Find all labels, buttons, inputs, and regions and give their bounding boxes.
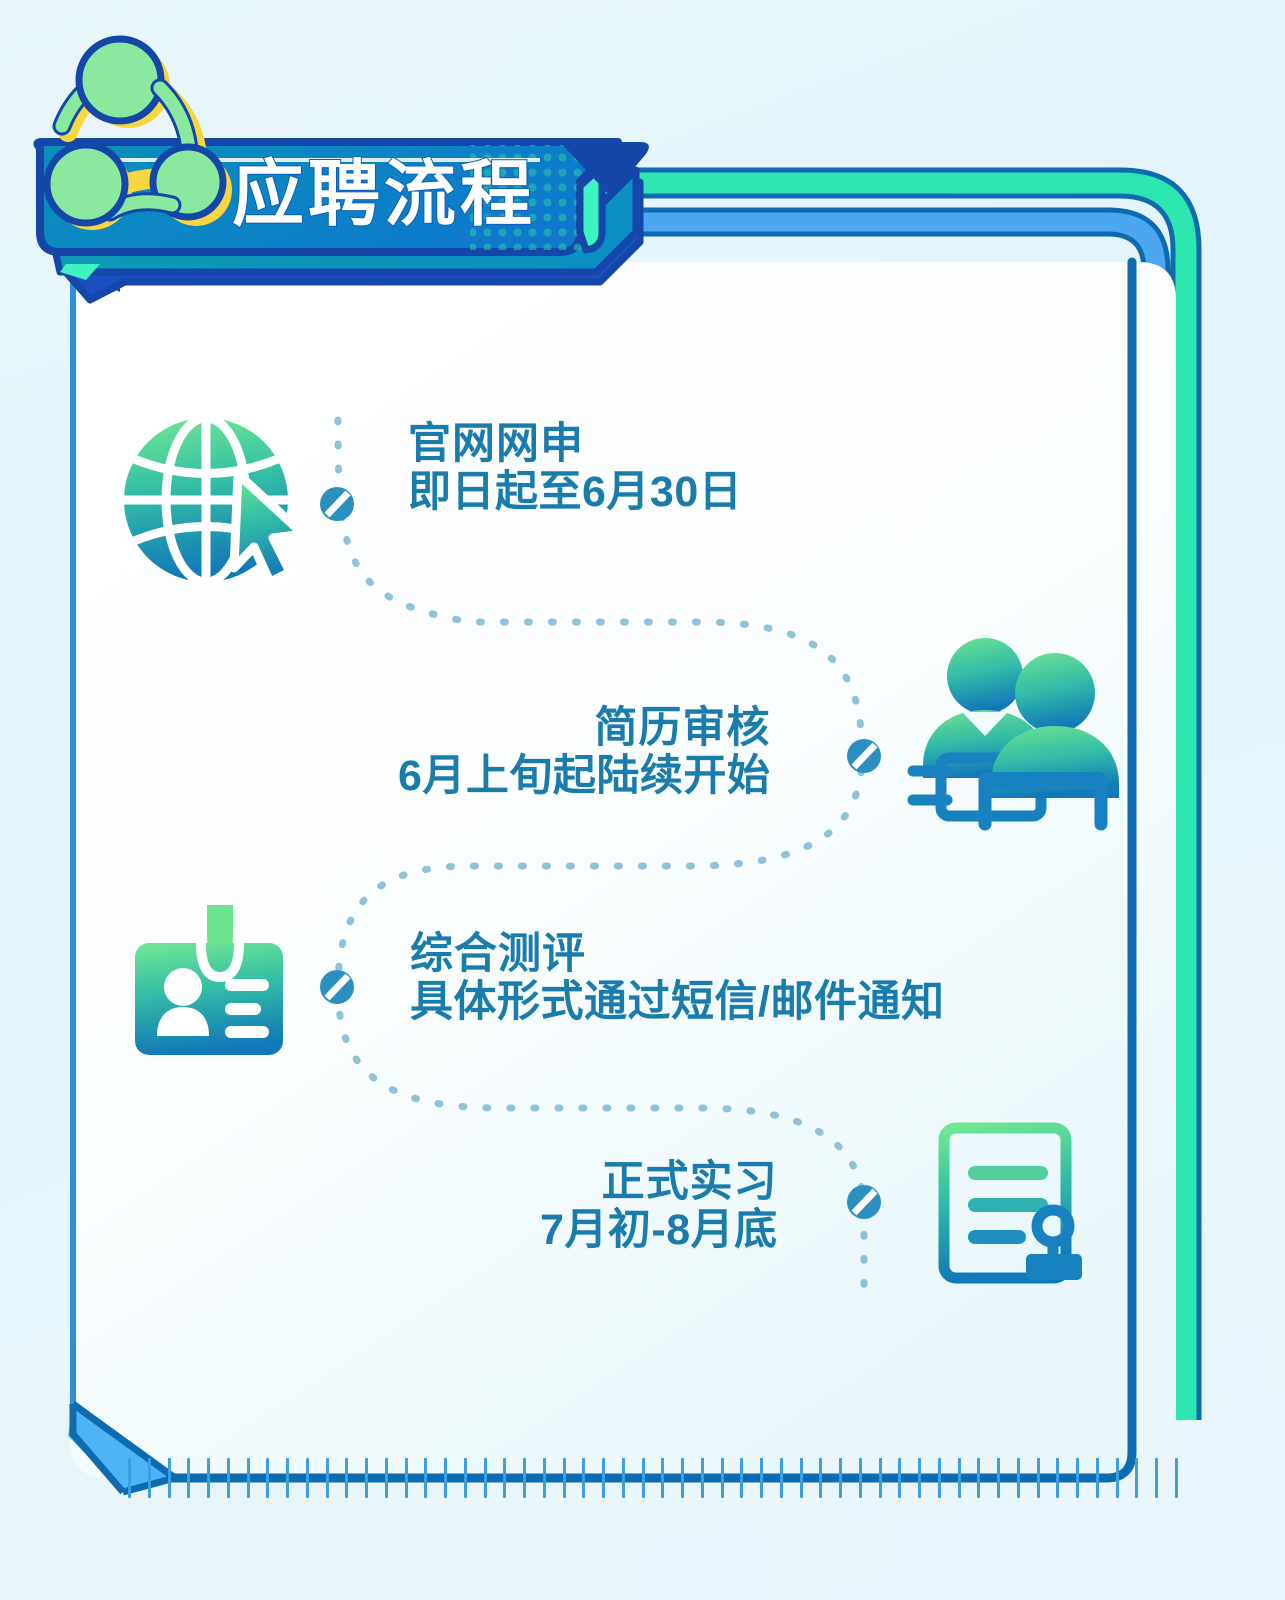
step-1-line2: 即日起至6月30日 (408, 468, 742, 516)
step-2-line1: 简历审核 (398, 704, 770, 752)
step-4-line2: 7月初-8月底 (540, 1206, 778, 1254)
step-2-line2: 6月上旬起陆续开始 (398, 752, 770, 800)
sprout-decoration-icons (47, 39, 232, 230)
infographic-canvas: 应聘流程 官网网申 即日起至6月30日 简历审核 6月上旬起陆续开始 综合测评 … (0, 0, 1285, 1600)
step-3-text-block: 综合测评 具体形式通过短信/邮件通知 (410, 930, 944, 1026)
step-1-text-block: 官网网申 即日起至6月30日 (408, 420, 742, 516)
step-1-line1: 官网网申 (408, 420, 742, 468)
banner-title: 应聘流程 (232, 155, 536, 235)
step-4-text-block: 正式实习 7月初-8月底 (540, 1158, 778, 1254)
step-3-line2: 具体形式通过短信/邮件通知 (410, 978, 944, 1026)
step-2-text-block: 简历审核 6月上旬起陆续开始 (398, 704, 770, 800)
step-4-line1: 正式实习 (540, 1158, 778, 1206)
step-3-line1: 综合测评 (410, 930, 944, 978)
